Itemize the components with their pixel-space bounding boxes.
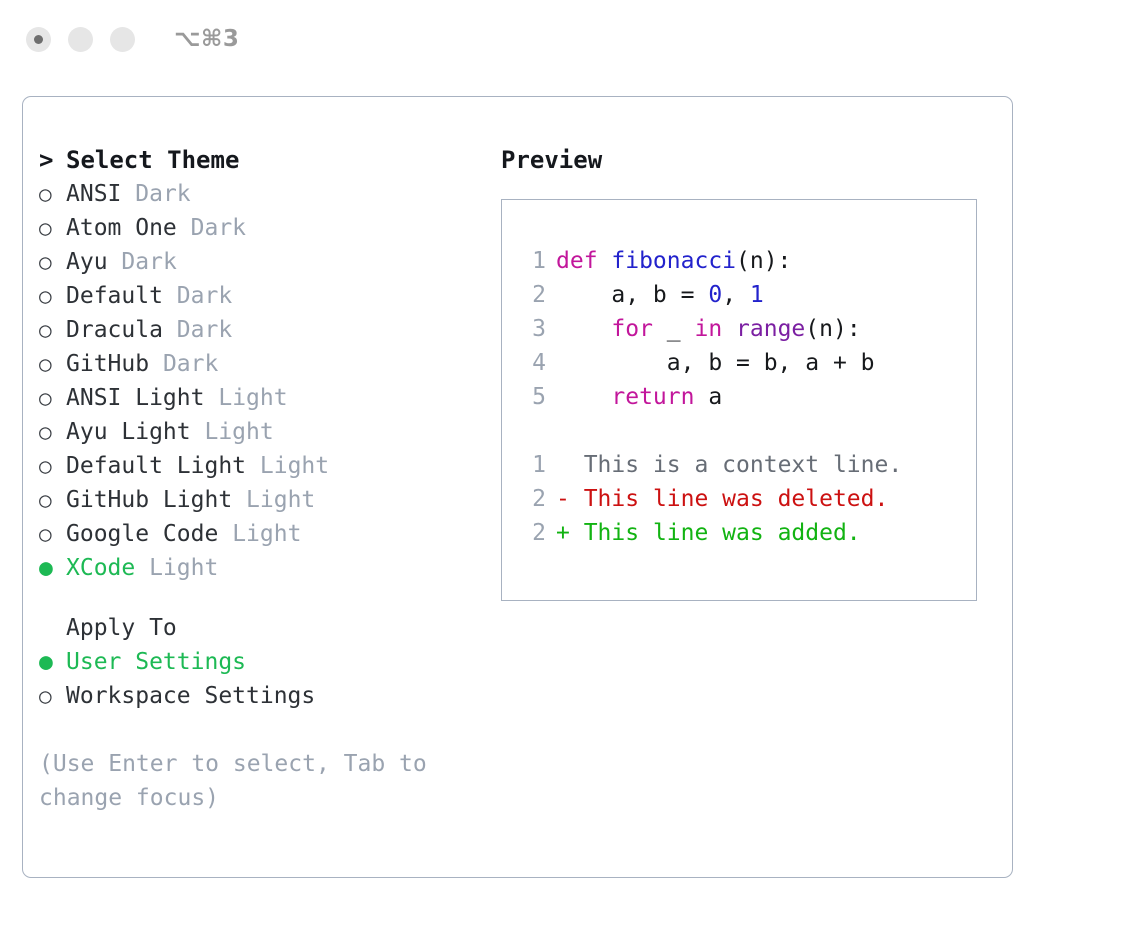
- line-number: 4: [518, 346, 546, 380]
- radio-unselected-icon: ○: [39, 679, 66, 713]
- code-token-plain: [556, 316, 611, 342]
- preview-column: Preview 1def fibonacci(n):2 a, b = 0, 13…: [501, 143, 1001, 601]
- code-text: def fibonacci(n):: [556, 244, 791, 278]
- theme-variant-tag: Light: [204, 415, 273, 449]
- code-preview: 1def fibonacci(n):2 a, b = 0, 13 for _ i…: [502, 244, 976, 414]
- theme-list: ○ANSI Dark○Atom One Dark○Ayu Dark○Defaul…: [39, 177, 509, 585]
- radio-unselected-icon: ○: [39, 517, 66, 551]
- code-token-plain: [556, 384, 611, 410]
- code-text: return a: [556, 380, 722, 414]
- code-line: 3 for _ in range(n):: [502, 312, 976, 346]
- theme-name: Default Light: [66, 449, 246, 483]
- theme-option-dracula[interactable]: ○Dracula Dark: [39, 313, 509, 347]
- code-diff-gap: [502, 414, 976, 448]
- code-token-plain: _: [653, 316, 695, 342]
- apply-to-option-user-settings[interactable]: ●User Settings: [39, 645, 509, 679]
- page-title: Select Theme: [66, 143, 239, 177]
- radio-selected-icon: ●: [39, 645, 66, 679]
- code-line: 2 a, b = 0, 1: [502, 278, 976, 312]
- theme-spacer: [163, 279, 177, 313]
- theme-name: Google Code: [66, 517, 218, 551]
- keyboard-shortcut-label: ⌥⌘3: [174, 26, 239, 52]
- theme-variant-tag: Light: [218, 381, 287, 415]
- radio-unselected-icon: ○: [39, 347, 66, 381]
- line-number: 5: [518, 380, 546, 414]
- theme-name: Ayu: [66, 245, 108, 279]
- apply-to-option-label: User Settings: [66, 645, 246, 679]
- theme-option-ayu[interactable]: ○Ayu Dark: [39, 245, 509, 279]
- theme-spacer: [218, 517, 232, 551]
- hint-spacer: [39, 713, 509, 747]
- code-token-plain: ,: [722, 282, 750, 308]
- theme-option-ayu-light[interactable]: ○Ayu Light Light: [39, 415, 509, 449]
- radio-unselected-icon: ○: [39, 313, 66, 347]
- apply-to-marker-spacer: ○: [39, 611, 66, 645]
- theme-spacer: [163, 313, 177, 347]
- theme-spacer: [191, 415, 205, 449]
- theme-option-ansi-light[interactable]: ○ANSI Light Light: [39, 381, 509, 415]
- theme-name: ANSI: [66, 177, 121, 211]
- code-token-plain: [722, 316, 736, 342]
- diff-preview: 1 This is a context line.2- This line wa…: [502, 448, 976, 550]
- theme-variant-tag: Dark: [163, 347, 218, 381]
- code-token-plain: (n):: [736, 248, 791, 274]
- theme-name: GitHub: [66, 347, 149, 381]
- radio-unselected-icon: ○: [39, 483, 66, 517]
- code-token-kw: for: [611, 316, 653, 342]
- theme-name: Default: [66, 279, 163, 313]
- theme-name: ANSI Light: [66, 381, 204, 415]
- diff-line-number: 2: [518, 482, 546, 516]
- theme-spacer: [121, 177, 135, 211]
- theme-name: GitHub Light: [66, 483, 232, 517]
- theme-spacer: [177, 211, 191, 245]
- code-token-plain: a: [694, 384, 722, 410]
- theme-variant-tag: Light: [149, 551, 218, 585]
- line-number: 3: [518, 312, 546, 346]
- theme-spacer: [232, 483, 246, 517]
- select-theme-header: > Select Theme: [39, 143, 509, 177]
- code-token-kw: def: [556, 248, 611, 274]
- code-line: 5 return a: [502, 380, 976, 414]
- main-panel: > Select Theme ○ANSI Dark○Atom One Dark○…: [22, 96, 1013, 878]
- theme-spacer: [204, 381, 218, 415]
- code-token-kw: return: [611, 384, 694, 410]
- theme-spacer: [246, 449, 260, 483]
- radio-unselected-icon: ○: [39, 449, 66, 483]
- radio-unselected-icon: ○: [39, 211, 66, 245]
- theme-name: Dracula: [66, 313, 163, 347]
- theme-option-default[interactable]: ○Default Dark: [39, 279, 509, 313]
- record-dot-inner: [34, 35, 43, 44]
- radio-unselected-icon: ○: [39, 279, 66, 313]
- theme-option-github-light[interactable]: ○GitHub Light Light: [39, 483, 509, 517]
- diff-line: 2- This line was deleted.: [502, 482, 976, 516]
- theme-option-default-light[interactable]: ○Default Light Light: [39, 449, 509, 483]
- code-token-num: 1: [750, 282, 764, 308]
- apply-to-label: Apply To: [66, 611, 177, 645]
- diff-sign: -: [556, 482, 570, 516]
- theme-variant-tag: Dark: [177, 279, 232, 313]
- code-token-builtin: range: [736, 316, 805, 342]
- theme-variant-tag: Light: [246, 483, 315, 517]
- code-line: 1def fibonacci(n):: [502, 244, 976, 278]
- diff-text: This line was added.: [570, 516, 861, 550]
- prompt-caret-icon: >: [39, 143, 66, 177]
- code-token-kw: in: [694, 316, 722, 342]
- dot-2-icon[interactable]: [68, 27, 93, 52]
- theme-option-atom-one[interactable]: ○Atom One Dark: [39, 211, 509, 245]
- theme-spacer: [108, 245, 122, 279]
- apply-to-header: ○ Apply To: [39, 611, 509, 645]
- diff-sign: +: [556, 516, 570, 550]
- apply-to-option-label: Workspace Settings: [66, 679, 315, 713]
- diff-sign: [556, 448, 570, 482]
- theme-option-google-code[interactable]: ○Google Code Light: [39, 517, 509, 551]
- theme-variant-tag: Dark: [191, 211, 246, 245]
- theme-variant-tag: Light: [232, 517, 301, 551]
- theme-variant-tag: Light: [260, 449, 329, 483]
- apply-to-option-workspace-settings[interactable]: ○Workspace Settings: [39, 679, 509, 713]
- theme-option-ansi[interactable]: ○ANSI Dark: [39, 177, 509, 211]
- code-token-plain: a, b =: [556, 282, 708, 308]
- theme-name: XCode: [66, 551, 135, 585]
- theme-option-github[interactable]: ○GitHub Dark: [39, 347, 509, 381]
- diff-line: 2+ This line was added.: [502, 516, 976, 550]
- diff-text: This is a context line.: [570, 448, 902, 482]
- radio-unselected-icon: ○: [39, 415, 66, 449]
- theme-spacer: [135, 551, 149, 585]
- app-window: ⌥⌘3 > Select Theme ○ANSI Dark○Atom One D…: [0, 0, 1140, 934]
- code-line: 4 a, b = b, a + b: [502, 346, 976, 380]
- theme-variant-tag: Dark: [121, 245, 176, 279]
- preview-title: Preview: [501, 143, 1001, 177]
- diff-line-number: 2: [518, 516, 546, 550]
- line-number: 1: [518, 244, 546, 278]
- theme-variant-tag: Dark: [135, 177, 190, 211]
- window-controls: [26, 27, 135, 52]
- titlebar: ⌥⌘3: [0, 0, 1140, 78]
- radio-unselected-icon: ○: [39, 245, 66, 279]
- theme-spacer: [149, 347, 163, 381]
- theme-name: Atom One: [66, 211, 177, 245]
- radio-unselected-icon: ○: [39, 177, 66, 211]
- record-dot-icon[interactable]: [26, 27, 51, 52]
- code-text: a, b = 0, 1: [556, 278, 764, 312]
- apply-to-list: ●User Settings○Workspace Settings: [39, 645, 509, 713]
- code-text: for _ in range(n):: [556, 312, 861, 346]
- preview-box: 1def fibonacci(n):2 a, b = 0, 13 for _ i…: [501, 199, 977, 601]
- theme-selector-column: > Select Theme ○ANSI Dark○Atom One Dark○…: [39, 143, 509, 815]
- diff-line-number: 1: [518, 448, 546, 482]
- diff-line: 1 This is a context line.: [502, 448, 976, 482]
- line-number: 2: [518, 278, 546, 312]
- code-token-num: 0: [708, 282, 722, 308]
- theme-option-xcode[interactable]: ●XCode Light: [39, 551, 509, 585]
- code-text: a, b = b, a + b: [556, 346, 875, 380]
- theme-variant-tag: Dark: [177, 313, 232, 347]
- radio-selected-icon: ●: [39, 551, 66, 585]
- code-token-fn: fibonacci: [611, 248, 736, 274]
- diff-text: This line was deleted.: [570, 482, 889, 516]
- radio-unselected-icon: ○: [39, 381, 66, 415]
- theme-name: Ayu Light: [66, 415, 191, 449]
- code-token-plain: a, b = b, a + b: [556, 350, 875, 376]
- dot-3-icon[interactable]: [110, 27, 135, 52]
- list-spacer: [39, 585, 509, 611]
- code-token-plain: (n):: [805, 316, 860, 342]
- keyboard-hint: (Use Enter to select, Tab to change focu…: [39, 747, 449, 815]
